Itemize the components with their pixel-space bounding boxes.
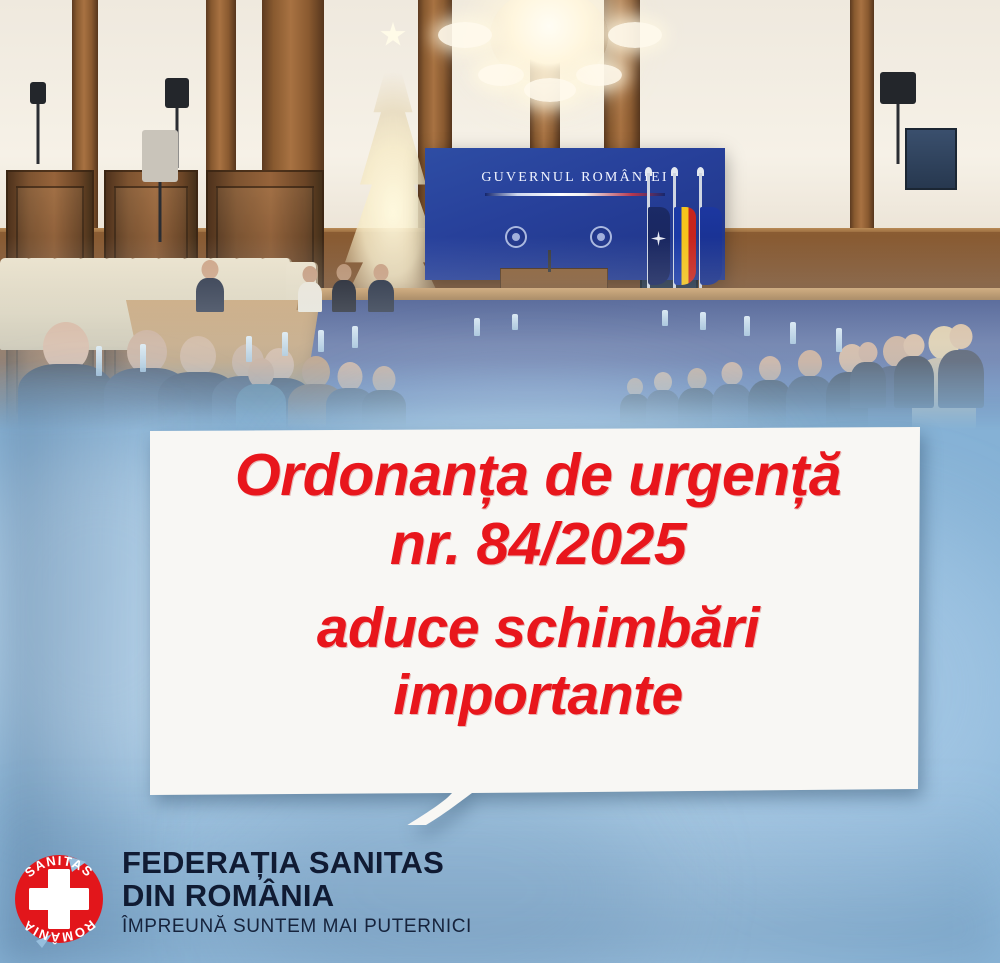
government-meeting-photo: GUVERNUL ROMÂNIEI [0,0,1000,430]
wall-speaker [142,130,178,182]
headline-line-1: Ordonanța de urgență [235,442,841,508]
podium-microphone [548,250,551,272]
participant [298,266,322,312]
wall-light [30,82,46,104]
federation-line-2: DIN ROMÂNIA [122,879,642,912]
headline-line-4: importante [393,663,683,727]
wall-monitor [905,128,957,190]
headline-text: Ordonanța de urgență nr. 84/2025 aduce s… [158,441,918,728]
federation-line-1: FEDERAȚIA SANITAS [122,846,642,879]
participant [850,342,886,408]
federation-name-block: FEDERAȚIA SANITAS DIN ROMÂNIA ÎMPREUNĂ S… [122,846,642,938]
backdrop-title: GUVERNUL ROMÂNIEI [425,170,725,186]
sanitas-logo-icon: SANITAS ROMÂNIA [6,846,112,952]
participant [196,260,224,312]
headline-line-3: aduce schimbări [317,596,759,660]
participants-far-row [186,248,426,312]
headline-line-2: nr. 84/2025 [390,511,686,577]
footer-branding: SANITAS ROMÂNIA FEDERAȚIA SANITAS DIN RO… [0,838,1000,963]
participant [938,324,984,408]
poster-canvas: GUVERNUL ROMÂNIEI [0,0,1000,963]
federation-slogan: ÎMPREUNĂ SUNTEM MAI PUTERNICI [122,916,642,938]
stage-light [880,72,916,104]
government-seal [505,226,527,248]
sanitas-logo: SANITAS ROMÂNIA [6,846,112,952]
participant [368,264,394,312]
participant [332,264,356,312]
participant [894,334,934,408]
observers-row [840,268,1000,408]
stage-light [165,78,189,108]
tricolor-bar [485,193,665,196]
photo-scene: GUVERNUL ROMÂNIEI [0,0,1000,430]
speech-bubble: Ordonanța de urgență nr. 84/2025 aduce s… [120,405,950,825]
government-seal [590,226,612,248]
